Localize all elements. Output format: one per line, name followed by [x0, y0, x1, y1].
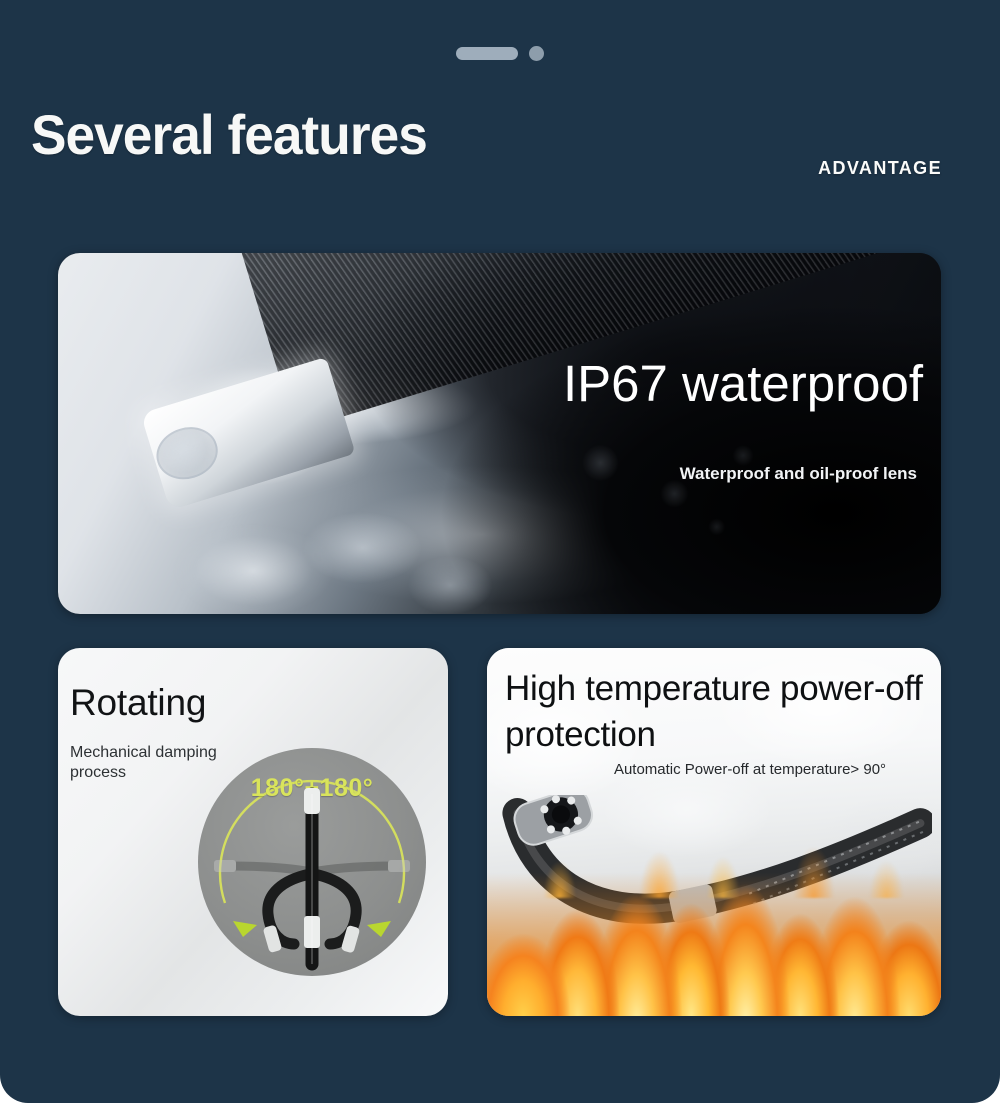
page-indicator-active-dot[interactable] — [456, 47, 518, 60]
rotating-card-title: Rotating — [70, 682, 206, 724]
waterproof-photo — [58, 253, 941, 614]
product-feature-page: Several features ADVANTAGE IP67 waterpro… — [0, 0, 1000, 1103]
cable-bend-illustration — [198, 748, 426, 976]
feature-card-row: Rotating Mechanical damping process 180°… — [58, 648, 941, 1016]
section-eyebrow-label: ADVANTAGE — [818, 158, 942, 179]
flame-tips — [487, 781, 941, 899]
page-title: Several features — [31, 102, 427, 167]
waterproof-card-subtitle: Waterproof and oil-proof lens — [680, 464, 917, 484]
feature-card-high-temperature[interactable]: High temperature power-off protection Au… — [487, 648, 941, 1016]
waterproof-card-title: IP67 waterproof — [563, 354, 923, 413]
page-indicator[interactable] — [0, 46, 1000, 61]
high-temperature-card-subtitle: Automatic Power-off at temperature> 90° — [487, 760, 941, 780]
bokeh-highlights — [553, 426, 818, 549]
page-indicator-inactive-dot[interactable] — [529, 46, 544, 61]
rotation-diagram: 180°+180° — [198, 748, 426, 976]
high-temperature-card-title: High temperature power-off protection — [505, 666, 941, 758]
feature-card-rotating[interactable]: Rotating Mechanical damping process 180°… — [58, 648, 448, 1016]
feature-card-waterproof[interactable]: IP67 waterproof Waterproof and oil-proof… — [58, 253, 941, 614]
